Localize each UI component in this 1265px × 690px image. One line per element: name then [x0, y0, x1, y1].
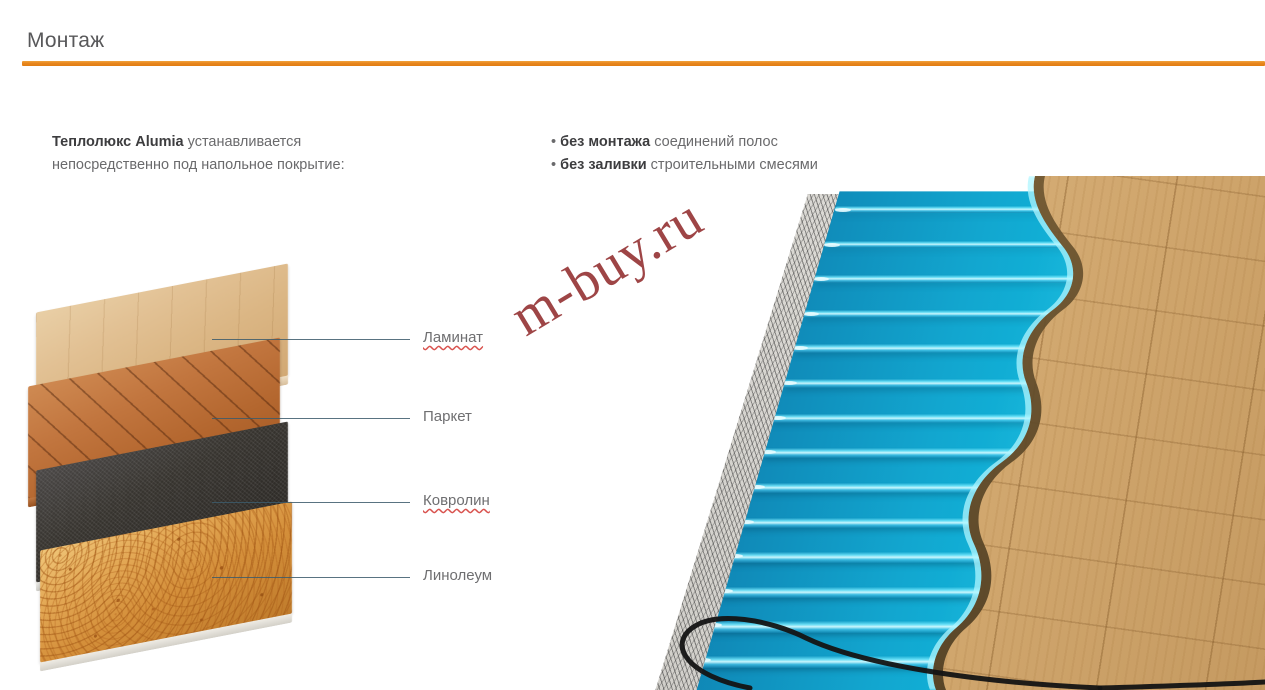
bullet-2-rest: строительными смесями: [647, 157, 818, 173]
bullet-2-bold: без заливки: [560, 157, 647, 173]
bullet-marker: •: [551, 134, 556, 150]
bullet-marker: •: [551, 157, 556, 173]
power-cable: [630, 176, 1265, 690]
product-name: Теплолюкс Alumia: [52, 134, 184, 150]
page-title: Монтаж: [27, 29, 104, 53]
slide: Монтаж Теплолюкс Alumia устанавливается …: [0, 0, 1265, 690]
product-photo: [630, 176, 1265, 690]
intro-text-left: Теплолюкс Alumia устанавливается непосре…: [52, 131, 345, 177]
label-laminat: Ламинат: [423, 329, 483, 346]
bullet-1-bold: без монтажа: [560, 134, 650, 150]
leader-line-parket: [212, 418, 410, 419]
bullet-item-1: • без монтажа соединений полос: [551, 131, 818, 154]
floor-covering-diagram: Ламинат Паркет Ковролин Линолеум: [18, 278, 538, 638]
leader-line-laminat: [212, 339, 410, 340]
label-parket: Паркет: [423, 408, 472, 425]
leader-line-linoleum: [212, 577, 410, 578]
intro-bullets-right: • без монтажа соединений полос • без зал…: [551, 131, 818, 177]
leader-line-kovrolin: [212, 502, 410, 503]
title-divider: [22, 61, 1265, 66]
bullet-1-rest: соединений полос: [650, 134, 778, 150]
label-linoleum: Линолеум: [423, 567, 492, 584]
bullet-item-2: • без заливки строительными смесями: [551, 154, 818, 177]
intro-left-line1: Теплолюкс Alumia устанавливается: [52, 131, 345, 154]
intro-left-line2: непосредственно под напольное покрытие:: [52, 154, 345, 177]
label-kovrolin: Ковролин: [423, 492, 490, 509]
intro-left-line1-rest: устанавливается: [184, 134, 302, 150]
